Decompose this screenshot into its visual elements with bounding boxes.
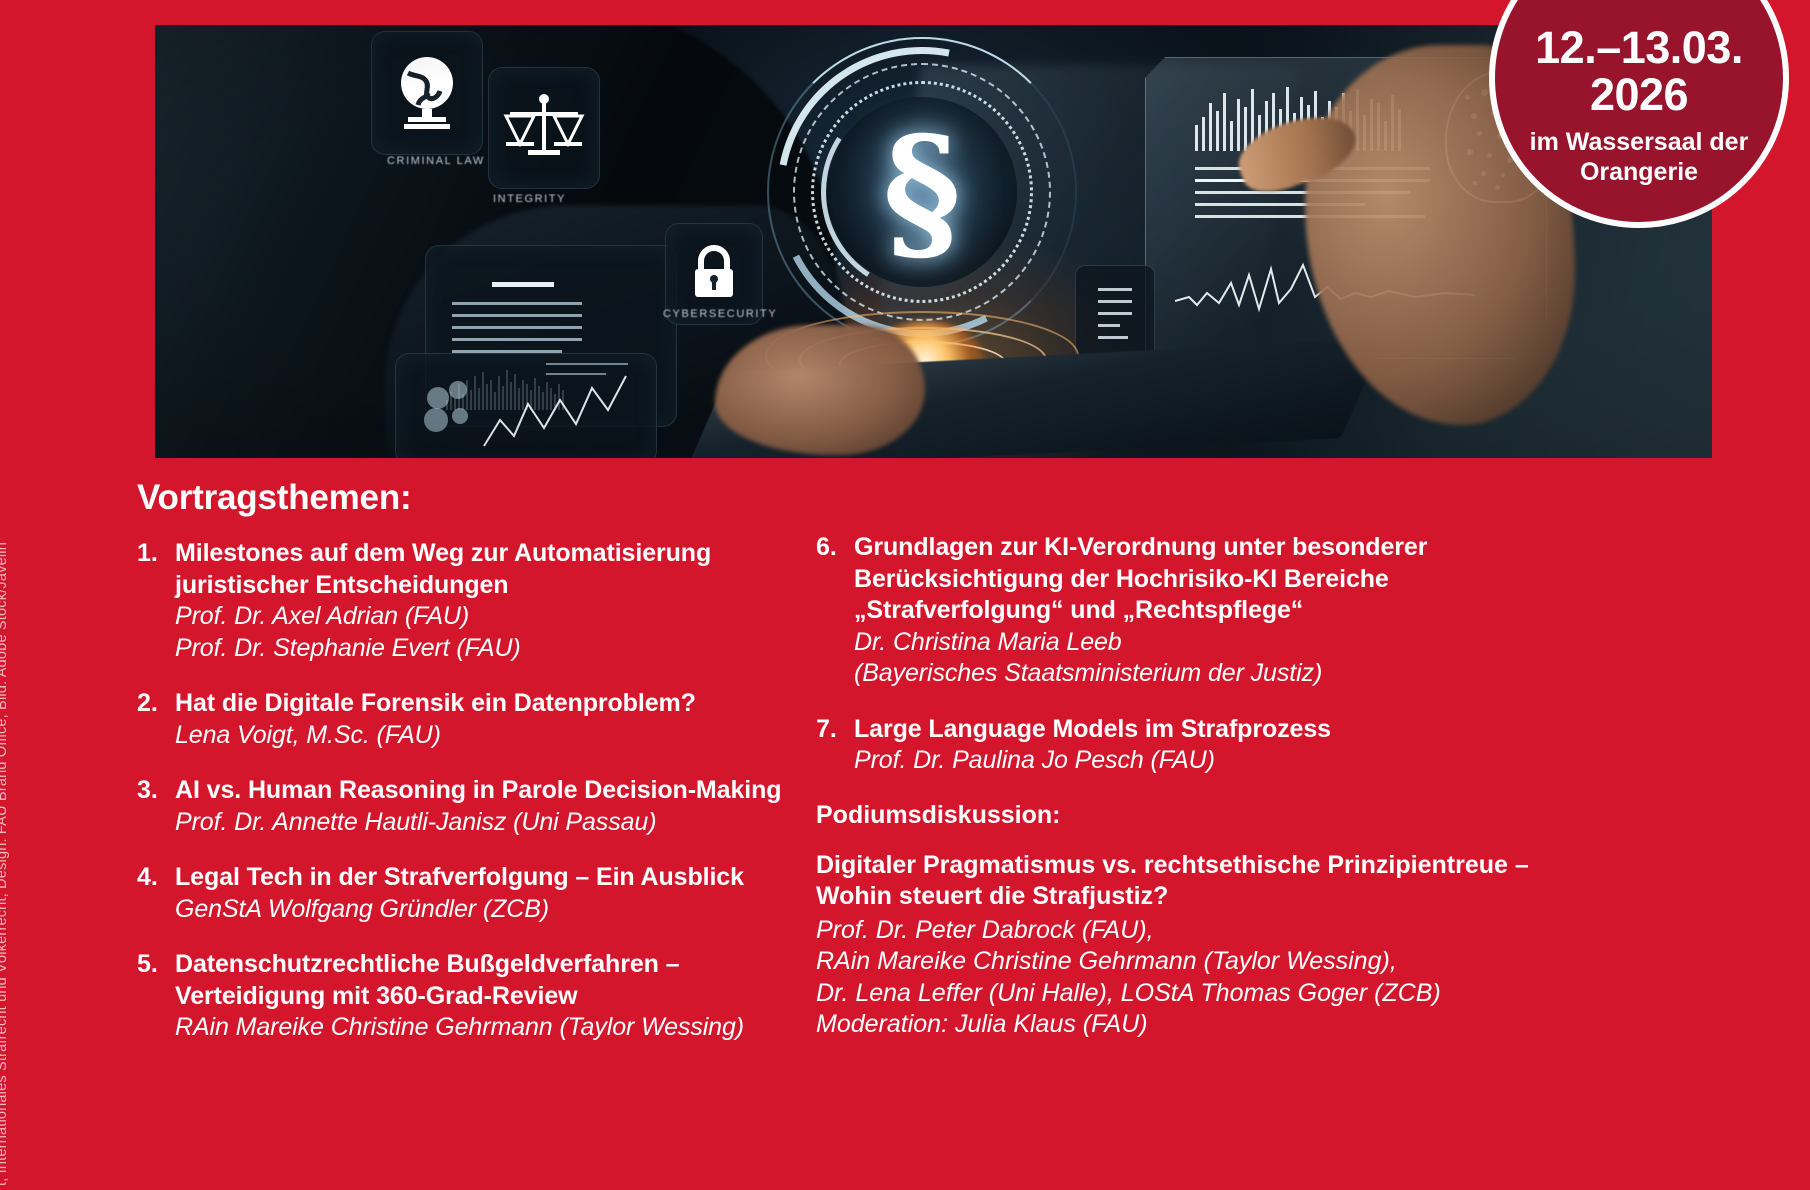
- talk-speaker: Lena Voigt, M.Sc. (FAU): [175, 720, 837, 752]
- talk-item: 4.Legal Tech in der Strafverfolgung – Ei…: [137, 862, 837, 925]
- talk-number: 2.: [137, 688, 175, 751]
- panel-discussion-title: Digitaler Pragmatismus vs. rechtsethisch…: [816, 850, 1556, 913]
- talk-speaker: Dr. Christina Maria Leeb: [854, 627, 1556, 659]
- talk-body: Legal Tech in der Strafverfolgung – Ein …: [175, 862, 837, 925]
- badge-venue-line2: Orangerie: [1530, 158, 1749, 188]
- talk-item: 6.Grundlagen zur KI-Verordnung unter bes…: [816, 532, 1556, 690]
- panel-person: Moderation: Julia Klaus (FAU): [816, 1009, 1556, 1041]
- talk-title-line: AI vs. Human Reasoning in Parole Decisio…: [175, 775, 837, 807]
- talk-item: 5.Datenschutzrechtliche Bußgeldverfahren…: [137, 949, 837, 1044]
- talk-number: 3.: [137, 775, 175, 838]
- talk-title-line: Milestones auf dem Weg zur Automatisieru…: [175, 538, 837, 570]
- talk-body: Datenschutzrechtliche Bußgeldverfahren –…: [175, 949, 837, 1044]
- credit-strip: t, Internationales Strafrecht und Völker…: [0, 0, 46, 1190]
- talk-title-line: „Strafverfolgung“ und „Rechtspflege“: [854, 595, 1556, 627]
- talk-body: AI vs. Human Reasoning in Parole Decisio…: [175, 775, 837, 838]
- panel-discussion-label: Podiumsdiskussion:: [816, 801, 1556, 830]
- talks-list-right: 6.Grundlagen zur KI-Verordnung unter bes…: [816, 532, 1556, 777]
- panel-person: Prof. Dr. Peter Dabrock (FAU),: [816, 915, 1556, 947]
- talk-body: Milestones auf dem Weg zur Automatisieru…: [175, 538, 837, 664]
- talk-title-line: Berücksichtigung der Hochrisiko-KI Berei…: [854, 564, 1556, 596]
- talk-speaker: RAin Mareike Christine Gehrmann (Taylor …: [175, 1012, 837, 1044]
- talk-number: 6.: [816, 532, 854, 690]
- section-title: Vortragsthemen:: [137, 478, 411, 518]
- badge-venue-line1: im Wassersaal der: [1530, 128, 1749, 158]
- talk-speaker: (Bayerisches Staatsministerium der Justi…: [854, 658, 1556, 690]
- talk-speaker: Prof. Dr. Axel Adrian (FAU): [175, 601, 837, 633]
- talk-item: 1.Milestones auf dem Weg zur Automatisie…: [137, 538, 837, 664]
- talk-item: 7.Large Language Models im StrafprozessP…: [816, 714, 1556, 777]
- talk-title-line: Verteidigung mit 360-Grad-Review: [175, 981, 837, 1013]
- talk-speaker: Prof. Dr. Stephanie Evert (FAU): [175, 633, 837, 665]
- badge-date-line2: 2026: [1535, 72, 1743, 119]
- talk-title-line: Large Language Models im Strafprozess: [854, 714, 1556, 746]
- talk-title-line: Legal Tech in der Strafverfolgung – Ein …: [175, 862, 837, 894]
- panel-title-line: Wohin steuert die Strafjustiz?: [816, 881, 1556, 913]
- talk-title-line: juristischer Entscheidungen: [175, 570, 837, 602]
- panel-title-line: Digitaler Pragmatismus vs. rechtsethisch…: [816, 850, 1556, 882]
- talk-number: 5.: [137, 949, 175, 1044]
- talk-number: 1.: [137, 538, 175, 664]
- talk-title-line: Datenschutzrechtliche Bußgeldverfahren –: [175, 949, 837, 981]
- hero-vignette: [155, 25, 1712, 458]
- panel-person: Dr. Lena Leffer (Uni Halle), LOStA Thoma…: [816, 978, 1556, 1010]
- talk-item: 3.AI vs. Human Reasoning in Parole Decis…: [137, 775, 837, 838]
- panel-person: RAin Mareike Christine Gehrmann (Taylor …: [816, 946, 1556, 978]
- badge-date-line1: 12.–13.03.: [1535, 25, 1743, 72]
- talk-title-line: Grundlagen zur KI-Verordnung unter beson…: [854, 532, 1556, 564]
- panel-discussion-people: Prof. Dr. Peter Dabrock (FAU),RAin Marei…: [816, 915, 1556, 1041]
- talk-body: Large Language Models im StrafprozessPro…: [854, 714, 1556, 777]
- talk-body: Grundlagen zur KI-Verordnung unter beson…: [854, 532, 1556, 690]
- talk-speaker: Prof. Dr. Annette Hautli-Janisz (Uni Pas…: [175, 807, 837, 839]
- talk-item: 2.Hat die Digitale Forensik ein Datenpro…: [137, 688, 837, 751]
- talk-body: Hat die Digitale Forensik ein Datenprobl…: [175, 688, 837, 751]
- hero-image: CRIMINAL LAW INTEGRITY: [155, 25, 1712, 458]
- credit-text: t, Internationales Strafrecht und Völker…: [0, 542, 10, 1186]
- talk-speaker: Prof. Dr. Paulina Jo Pesch (FAU): [854, 745, 1556, 777]
- talk-number: 4.: [137, 862, 175, 925]
- talk-speaker: GenStA Wolfgang Gründler (ZCB): [175, 894, 837, 926]
- talks-column-right: 6.Grundlagen zur KI-Verordnung unter bes…: [816, 532, 1556, 1041]
- poster-root: t, Internationales Strafrecht und Völker…: [0, 0, 1810, 1190]
- talks-column-left: 1.Milestones auf dem Weg zur Automatisie…: [137, 538, 837, 1068]
- talk-title-line: Hat die Digitale Forensik ein Datenprobl…: [175, 688, 837, 720]
- talk-number: 7.: [816, 714, 854, 777]
